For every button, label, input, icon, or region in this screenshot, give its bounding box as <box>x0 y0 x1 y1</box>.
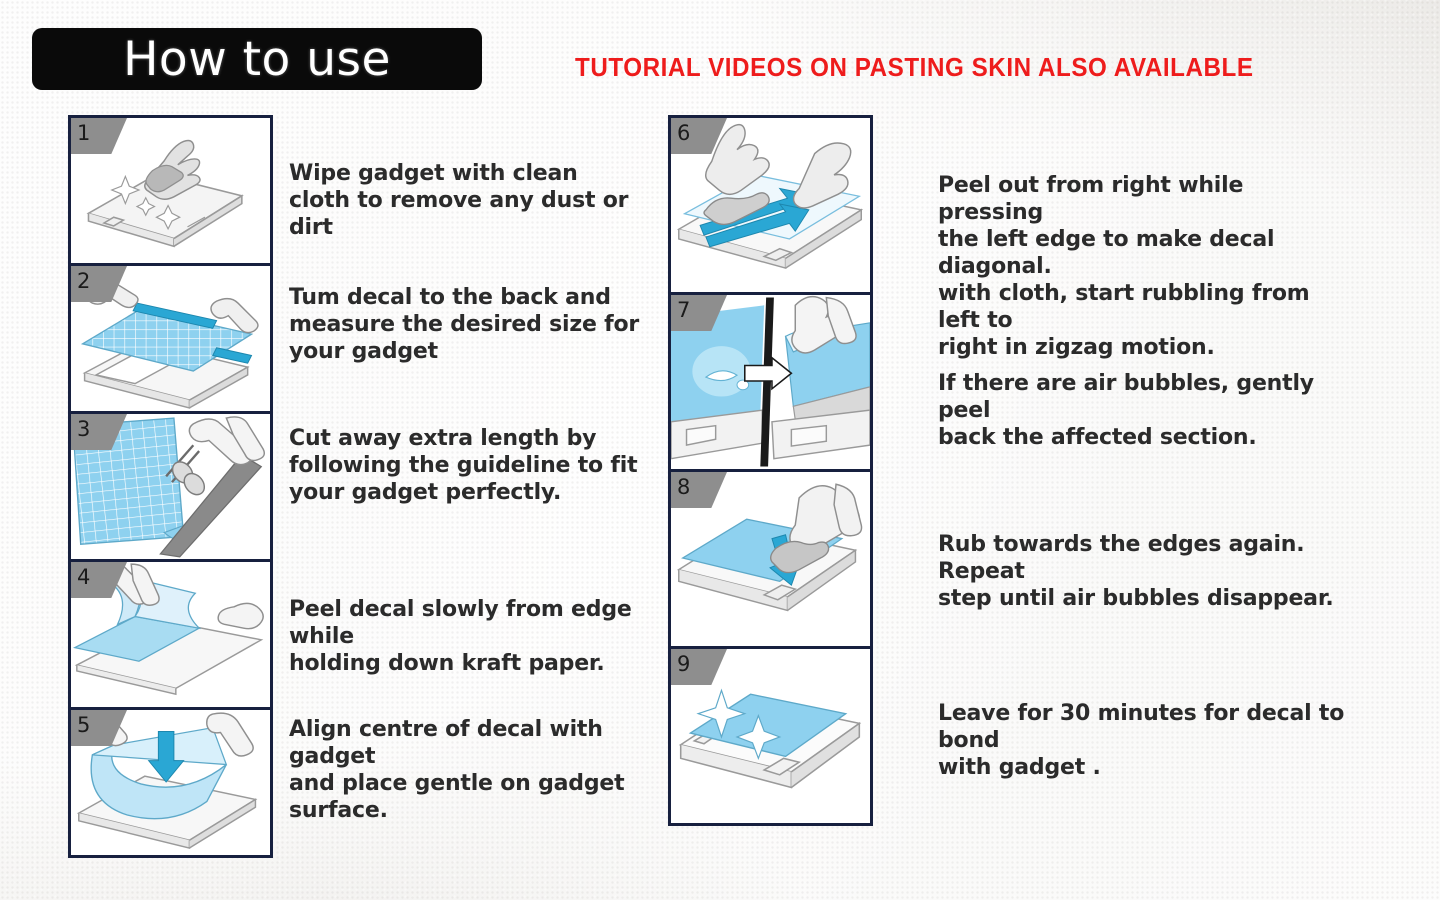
left-panel-column: 1 <box>68 115 273 858</box>
left-panel-stack: 1 <box>68 115 273 858</box>
page-title: How to use <box>123 36 391 83</box>
step-panel-3: 3 <box>71 414 270 562</box>
step-panel-8: 8 <box>671 472 870 649</box>
tutorial-note: TUTORIAL VIDEOS ON PASTING SKIN ALSO AVA… <box>575 52 1347 82</box>
step-panel-5: 5 <box>71 710 270 855</box>
step-panel-6: 6 <box>671 118 870 295</box>
step-caption-9: Leave for 30 minutes for decal to bond w… <box>938 700 1348 781</box>
step-caption-1: Wipe gadget with clean cloth to remove a… <box>289 160 649 241</box>
step-caption-7: If there are air bubbles, gently peel ba… <box>938 370 1348 451</box>
title-banner: How to use <box>32 28 482 90</box>
step-caption-5: Align centre of decal with gadget and pl… <box>289 716 649 824</box>
step-caption-3: Cut away extra length by following the g… <box>289 425 649 506</box>
how-to-use-infographic: How to use TUTORIAL VIDEOS ON PASTING SK… <box>0 0 1440 900</box>
step-panel-2: 2 <box>71 266 270 414</box>
right-panel-stack: 6 <box>668 115 873 826</box>
step-panel-4: 4 <box>71 562 270 710</box>
step-panel-9: 9 <box>671 649 870 823</box>
step-caption-4: Peel decal slowly from edge while holdin… <box>289 596 649 677</box>
step-caption-2: Tum decal to the back and measure the de… <box>289 284 649 365</box>
step-caption-8: Rub towards the edges again. Repeat step… <box>938 531 1348 612</box>
step-panel-1: 1 <box>71 118 270 266</box>
step-panel-7: 7 <box>671 295 870 472</box>
step-caption-6: Peel out from right while pressing the l… <box>938 172 1348 361</box>
right-panel-column: 6 <box>668 115 873 826</box>
